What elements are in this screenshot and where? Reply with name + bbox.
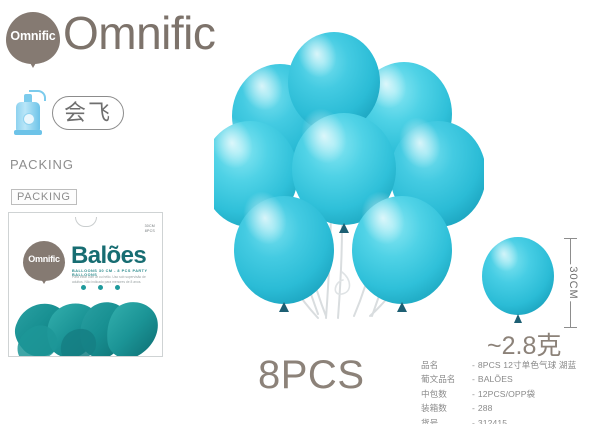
specification-table: 品名 - 8PCS 12寸单色气球 湖蓝 葡文品名 - BALÕES 中包数 -… xyxy=(421,359,596,424)
package-corner-specs: 30CM 8PCS xyxy=(145,224,155,235)
packing-tag-label: PACKING xyxy=(11,189,77,205)
tank-base-shape xyxy=(14,130,42,135)
product-spec-sheet: Omnific Omnific 会飞 PACKING PACKING 30CM … xyxy=(0,0,600,424)
package-fineprint: Para inflar com ar ou hélio. Uso sob sup… xyxy=(72,275,158,285)
can-fly-badge: 会飞 xyxy=(52,96,124,130)
package-balloon-neck-shape xyxy=(41,279,47,284)
size-dimension-indicator: 30CM xyxy=(562,238,584,328)
spec-separator: - xyxy=(469,417,478,424)
spec-separator: - xyxy=(469,402,478,415)
brand-logo-balloon-icon: Omnific xyxy=(6,12,60,70)
packing-section-title: PACKING xyxy=(10,157,74,172)
package-dot xyxy=(81,285,86,290)
can-fly-badge-label: 会飞 xyxy=(64,102,112,124)
package-logo-label: Omnific xyxy=(23,254,65,264)
spec-value: 8PCS 12寸单色气球 湖蓝 xyxy=(478,359,576,372)
spec-row: 货号 - 312415 xyxy=(421,417,596,424)
package-dot xyxy=(98,285,103,290)
tank-dial-shape xyxy=(23,113,35,125)
spec-value: 312415 xyxy=(478,417,507,424)
spec-key: 装箱数 xyxy=(421,402,469,415)
spec-value: 12PCS/OPP袋 xyxy=(478,388,535,401)
spec-key: 中包数 xyxy=(421,388,469,401)
helium-tank-icon xyxy=(12,88,46,138)
package-hang-hole-icon xyxy=(75,217,97,227)
brand-wordmark: Omnific xyxy=(63,10,215,56)
spec-value: 288 xyxy=(478,402,493,415)
spec-separator: - xyxy=(469,373,478,386)
net-weight-label: ~2.8克 xyxy=(487,334,561,359)
spec-row: 葡文品名 - BALÕES xyxy=(421,373,596,386)
balloon-cluster-image xyxy=(214,14,484,354)
spec-value: BALÕES xyxy=(478,373,513,386)
reference-balloon-image xyxy=(480,236,556,328)
package-photo: 30CM 8PCS Omnific Balões BALLOONS 30 CM … xyxy=(8,212,163,357)
spec-key: 葡文品名 xyxy=(421,373,469,386)
spec-separator: - xyxy=(469,359,478,372)
spec-separator: - xyxy=(469,388,478,401)
brand-logo-label: Omnific xyxy=(6,29,60,43)
spec-row: 品名 - 8PCS 12寸单色气球 湖蓝 xyxy=(421,359,596,372)
spec-key: 货号 xyxy=(421,417,469,424)
pcs-count-label: 8PCS xyxy=(258,355,365,395)
package-deflated-balloons-image xyxy=(9,297,162,357)
balloon-neck-shape xyxy=(29,61,37,68)
dimension-cap-bottom xyxy=(564,327,577,328)
package-product-title: Balões xyxy=(71,244,146,268)
package-corner-count: 8PCS xyxy=(145,229,155,234)
spec-key: 品名 xyxy=(421,359,469,372)
package-logo-balloon-icon: Omnific xyxy=(23,241,65,285)
spec-row: 中包数 - 12PCS/OPP袋 xyxy=(421,388,596,401)
package-dot-row xyxy=(81,285,120,290)
size-label: 30CM xyxy=(567,264,579,301)
spec-row: 装箱数 - 288 xyxy=(421,402,596,415)
package-dot xyxy=(115,285,120,290)
